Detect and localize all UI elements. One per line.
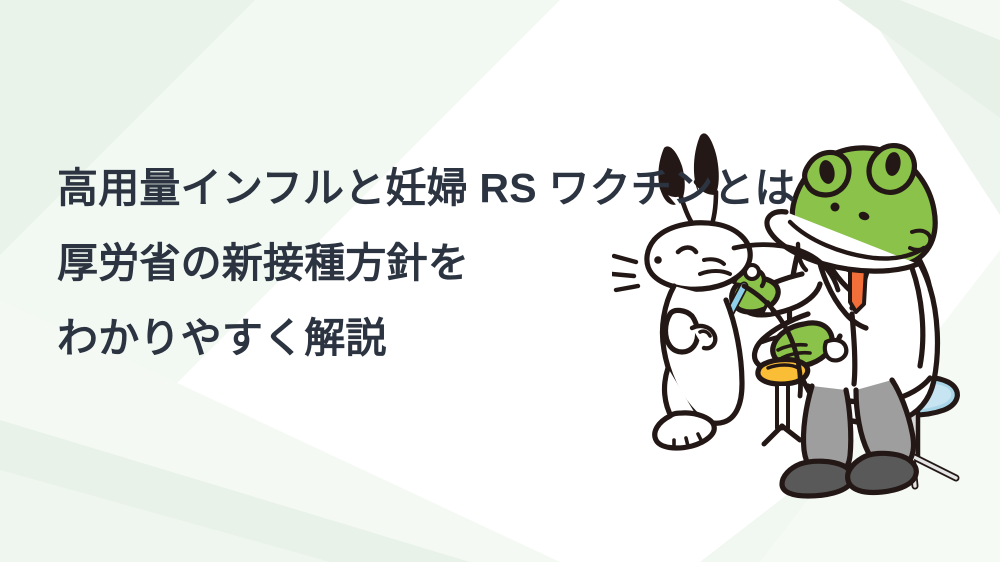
band-bottom-left-outer	[0, 420, 470, 562]
band-bottom-left-inner	[0, 470, 330, 562]
headline-line-2: 厚労省の新接種方針を	[57, 243, 757, 284]
band-top-right-inner	[838, 0, 1000, 118]
headline-line-3: わかりやすく解説	[57, 318, 757, 359]
headline-line-1: 高用量インフルと妊婦 RS ワクチンとは	[57, 168, 757, 209]
headline: 高用量インフルと妊婦 RS ワクチンとは 厚労省の新接種方針を わかりやすく解説	[57, 168, 757, 359]
thumbnail-card: 高用量インフルと妊婦 RS ワクチンとは 厚労省の新接種方針を わかりやすく解説	[0, 0, 1000, 562]
band-top-right-faint	[900, 0, 1000, 40]
